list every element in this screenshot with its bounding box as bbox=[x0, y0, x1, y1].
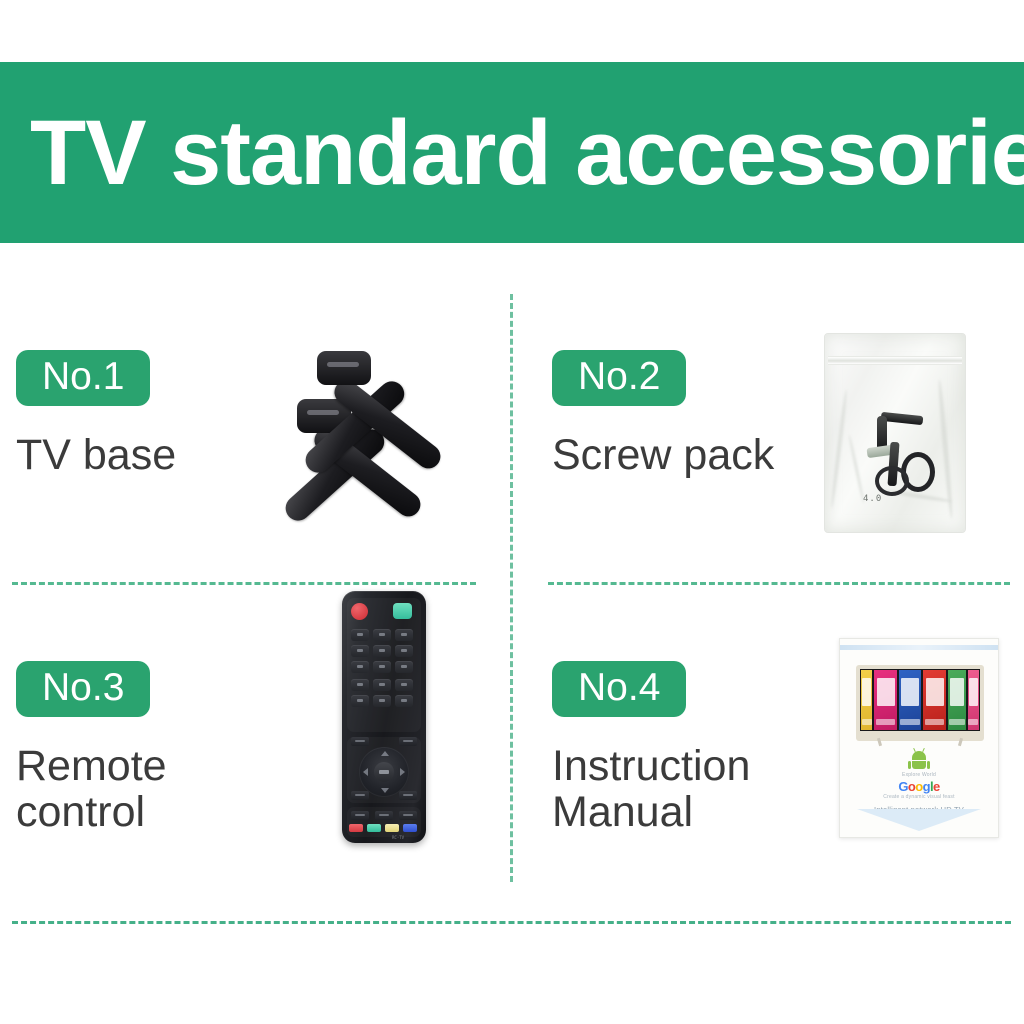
dpad-up-arrow-icon bbox=[381, 751, 389, 756]
volume-up-key bbox=[351, 737, 369, 746]
function-key-left-1 bbox=[351, 679, 369, 691]
dpad-navigation bbox=[359, 747, 409, 797]
number-key-5 bbox=[373, 645, 391, 657]
vertical-dashed-divider bbox=[510, 294, 513, 882]
accessory-label-1: TV base bbox=[16, 433, 176, 479]
media-key-1 bbox=[351, 811, 369, 820]
tile-caption-bar bbox=[862, 719, 872, 725]
tile-caption-bar bbox=[968, 719, 978, 725]
accessory-item-1-text: No.1 TV base bbox=[16, 350, 176, 479]
manual-tagline: Create a dynamic visual feast bbox=[840, 794, 998, 801]
channel-up-key bbox=[399, 737, 417, 746]
accessory-label-4-line2: Manual bbox=[552, 790, 750, 836]
horizontal-dashed-divider-bottom bbox=[12, 921, 1011, 924]
function-key-right-1 bbox=[395, 679, 413, 691]
tile-thumbnail bbox=[877, 678, 895, 706]
number-key-1 bbox=[351, 629, 369, 641]
screw-pack-image: 4.0 bbox=[824, 333, 966, 533]
number-key-8 bbox=[373, 661, 391, 673]
channel-down-key bbox=[399, 791, 417, 800]
color-key-green bbox=[367, 824, 381, 832]
number-key-6 bbox=[395, 645, 413, 657]
bag-crease bbox=[830, 389, 849, 509]
dpad-left-arrow-icon bbox=[363, 768, 368, 776]
tv-screen bbox=[860, 669, 980, 731]
ziplock-bag: 4.0 bbox=[824, 333, 966, 533]
tile-caption-bar bbox=[876, 719, 896, 725]
number-key-0 bbox=[373, 679, 391, 691]
badge-no-1: No.1 bbox=[16, 350, 150, 406]
accessory-item-1: No.1 TV base bbox=[0, 295, 510, 580]
ui-tile-pink bbox=[968, 670, 979, 730]
tile-thumbnail bbox=[901, 678, 919, 706]
google-logo-text: Google bbox=[840, 778, 998, 796]
tile-thumbnail bbox=[862, 678, 871, 706]
tile-thumbnail bbox=[969, 678, 978, 706]
android-body bbox=[912, 761, 926, 769]
ui-tile-red bbox=[923, 670, 946, 730]
android-arm-right bbox=[927, 761, 930, 769]
page-title: TV standard accessories bbox=[30, 107, 1024, 199]
accessory-label-4: Instruction Manual bbox=[552, 744, 750, 835]
google-letter-e: e bbox=[933, 779, 940, 794]
leg-hub bbox=[317, 351, 371, 385]
accessory-label-3-line1: Remote bbox=[16, 744, 167, 790]
ui-tile-yellow bbox=[861, 670, 872, 730]
screw bbox=[875, 466, 909, 496]
color-key-red bbox=[349, 824, 363, 832]
accessory-label-3-line2: control bbox=[16, 790, 167, 836]
number-key-9 bbox=[395, 661, 413, 673]
manual-tv-illustration bbox=[856, 665, 984, 741]
accessory-item-4: No.4 Instruction Manual bbox=[514, 586, 1024, 882]
google-letter-o2: o bbox=[915, 779, 922, 794]
screw bbox=[881, 412, 924, 425]
accessory-item-2: No.2 Screw pack 4.0 bbox=[514, 295, 1024, 580]
ui-tile-blue bbox=[899, 670, 922, 730]
dpad-down-arrow-icon bbox=[381, 788, 389, 793]
accessory-label-1-line1: TV base bbox=[16, 431, 176, 479]
horizontal-dashed-divider-left bbox=[12, 582, 476, 585]
color-key-blue bbox=[403, 824, 417, 832]
ui-tile-magenta bbox=[874, 670, 897, 730]
tile-thumbnail bbox=[950, 678, 964, 706]
number-key-2 bbox=[373, 629, 391, 641]
badge-no-4: No.4 bbox=[552, 661, 686, 717]
tv-base-image bbox=[255, 303, 495, 478]
remote-body: RC-TV bbox=[342, 591, 426, 843]
bag-label-text: 4.0 bbox=[863, 494, 882, 504]
dpad-right-arrow-icon bbox=[400, 768, 405, 776]
badge-no-3: No.3 bbox=[16, 661, 150, 717]
accessory-label-4-line1: Instruction bbox=[552, 744, 750, 790]
remote-brand-text: RC-TV bbox=[392, 835, 404, 840]
dpad-ok-button bbox=[374, 762, 394, 782]
mute-button-icon bbox=[393, 603, 412, 619]
number-key-3 bbox=[395, 629, 413, 641]
manual-cover: Explore World Google Create a dynamic vi… bbox=[839, 638, 999, 838]
tv-stand-legs bbox=[874, 738, 966, 746]
tile-thumbnail bbox=[926, 678, 944, 706]
color-key-yellow bbox=[385, 824, 399, 832]
media-key-2 bbox=[375, 811, 393, 820]
function-key-left-2 bbox=[351, 695, 369, 707]
android-robot-icon bbox=[908, 751, 930, 769]
tv-base-leg-upper bbox=[277, 303, 427, 433]
manual-bottom-chevron bbox=[857, 809, 981, 831]
manual-top-accent-bar bbox=[840, 645, 998, 650]
horizontal-dashed-divider-right bbox=[548, 582, 1010, 585]
ui-tile-green bbox=[948, 670, 966, 730]
home-key bbox=[373, 695, 391, 707]
google-letter-g1: G bbox=[898, 779, 908, 794]
android-head bbox=[912, 751, 926, 760]
tile-caption-bar bbox=[900, 719, 920, 725]
accessory-label-2-line1: Screw pack bbox=[552, 431, 774, 479]
google-letter-g2: g bbox=[923, 779, 930, 794]
tv-bezel bbox=[856, 665, 984, 741]
remote-control-image: RC-TV bbox=[330, 591, 450, 861]
badge-no-2: No.2 bbox=[552, 350, 686, 406]
number-key-4 bbox=[351, 645, 369, 657]
tile-caption-bar bbox=[949, 719, 965, 725]
accessory-label-2: Screw pack bbox=[552, 433, 774, 479]
header-banner: TV standard accessories bbox=[0, 62, 1024, 243]
screws-group bbox=[861, 412, 937, 490]
accessory-label-3: Remote control bbox=[16, 744, 167, 835]
accessory-item-4-text: No.4 Instruction Manual bbox=[552, 661, 750, 835]
function-key-right-2 bbox=[395, 695, 413, 707]
accessory-item-3-text: No.3 Remote control bbox=[16, 661, 167, 835]
accessory-item-2-text: No.2 Screw pack bbox=[552, 350, 774, 479]
bag-zipper bbox=[828, 356, 962, 365]
volume-down-key bbox=[351, 791, 369, 800]
media-key-3 bbox=[399, 811, 417, 820]
tile-caption-bar bbox=[925, 719, 945, 725]
power-button-icon bbox=[351, 603, 368, 620]
accessory-item-3: No.3 Remote control bbox=[0, 586, 510, 882]
android-arm-left bbox=[908, 761, 911, 769]
number-key-7 bbox=[351, 661, 369, 673]
instruction-manual-image: Explore World Google Create a dynamic vi… bbox=[839, 638, 999, 838]
